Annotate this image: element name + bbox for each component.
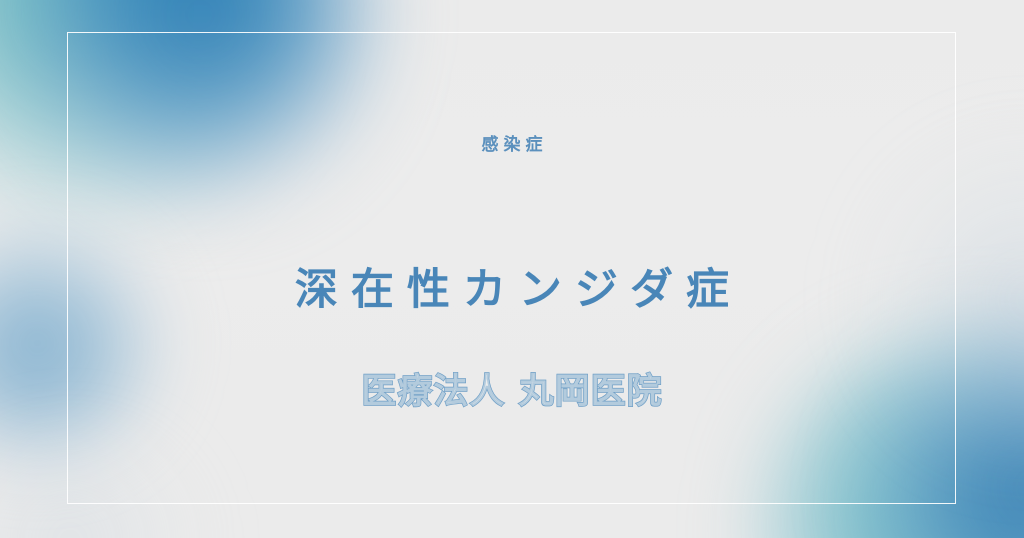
category-label: 感染症 — [0, 130, 1024, 155]
slide-border-frame — [67, 32, 956, 504]
decorative-blob-left-middle-blue — [0, 218, 170, 468]
decorative-blob-top-left-blue — [20, 0, 380, 205]
decorative-blob-right-haze — [880, 150, 1024, 450]
decorative-blob-bottom-right-teal — [760, 330, 1024, 538]
decorative-blob-bottom-right-blue — [868, 318, 1024, 538]
page-title: 深在性カンジダ症 — [0, 267, 1024, 314]
title-slide: 感染症 深在性カンジダ症 医療法人 丸岡医院 — [0, 0, 1024, 538]
organization-name: 医療法人 丸岡医院 — [0, 372, 1024, 412]
slide-content: 感染症 深在性カンジダ症 医療法人 丸岡医院 — [0, 0, 1024, 538]
background-wash-overlay — [0, 0, 1024, 538]
decorative-blob-bottom-left-haze — [0, 430, 200, 538]
decorative-blob-top-left-teal — [0, 0, 300, 225]
